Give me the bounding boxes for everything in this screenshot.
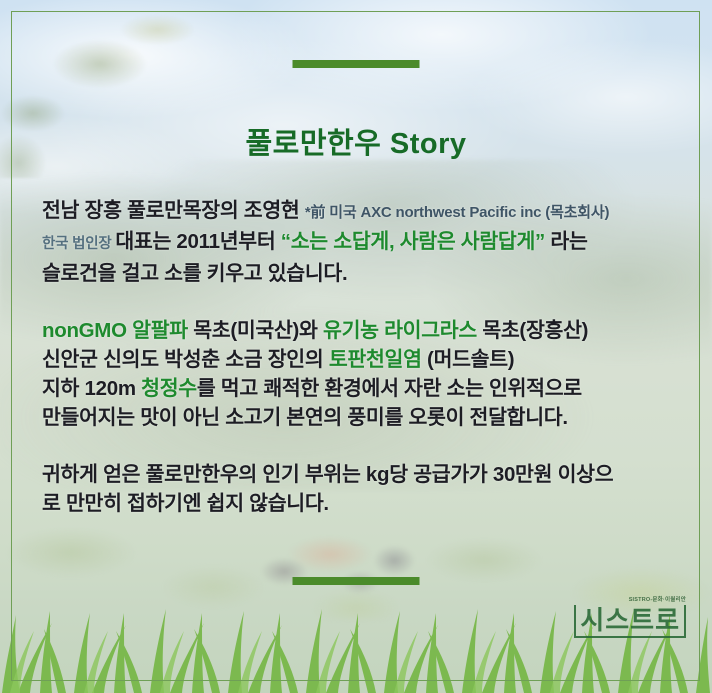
story-body: 전남 장흥 풀로만목장의 조영현 *前 미국 AXC northwest Pac…	[42, 196, 684, 518]
text-segment: (머드솔트)	[422, 348, 515, 371]
poster-content: 풀로만한우 Story 전남 장흥 풀로만목장의 조영현 *前 미국 AXC n…	[0, 0, 712, 693]
text-segment: 대표는 2011년부터	[115, 230, 280, 253]
paragraph-price: 귀하게 얻은 풀로만한우의 인기 부위는 kg당 공급가가 30만원 이상으로 …	[42, 460, 684, 518]
text-segment: 슬로건을 걸고 소를 키우고 있습니다.	[42, 262, 347, 285]
text-segment: nonGMO 알팔파	[42, 319, 188, 342]
text-segment: 한국 법인장	[42, 236, 115, 252]
paragraph-feed: nonGMO 알팔파 목초(미국산)와 유기농 라이그라스 목초(장흥산)신안군…	[42, 316, 684, 432]
story-poster: 풀로만한우 Story 전남 장흥 풀로만목장의 조영현 *前 미국 AXC n…	[0, 0, 712, 693]
text-segment: 전남 장흥 풀로만목장의 조영현	[42, 199, 305, 222]
text-segment: 지하 120m	[42, 377, 141, 400]
text-segment: 청정수	[141, 377, 197, 400]
text-segment: 유기농 라이그라스	[323, 319, 477, 342]
text-segment: 를 먹고 쾌적한 환경에서 자란 소는 인위적으로	[197, 377, 582, 400]
paragraph-intro: 전남 장흥 풀로만목장의 조영현 *前 미국 AXC northwest Pac…	[42, 196, 684, 288]
text-segment: 만들어지는 맛이 아닌 소고기 본연의 풍미를 오롯이 전달합니다.	[42, 406, 568, 429]
text-segment: 로 만만히 접하기엔 쉽지 않습니다.	[42, 492, 329, 515]
text-segment: 라는	[545, 230, 588, 253]
text-segment: 목초(미국산)와	[188, 319, 323, 342]
brand-logo: SISTRO-문화·이월리안 시스트로	[571, 595, 686, 638]
text-segment: “소는 소답게, 사람은 사람답게”	[281, 230, 545, 253]
logo-tagline: SISTRO-문화·이월리안	[571, 595, 686, 603]
text-segment: 신안군 신의도 박성춘 소금 장인의	[42, 348, 329, 371]
text-segment: 귀하게 얻은 풀로만한우의 인기 부위는 kg당 공급가가 30만원 이상으	[42, 463, 613, 486]
text-segment: 목초(장흥산)	[477, 319, 588, 342]
logo-wordmark: 시스트로	[574, 605, 686, 638]
text-segment: *前 미국 AXC northwest Pacific inc (목초회사)	[305, 204, 609, 221]
page-title: 풀로만한우 Story	[0, 120, 712, 162]
divider-bottom	[293, 577, 420, 585]
divider-top	[293, 60, 420, 68]
text-segment: 토판천일염	[329, 348, 422, 371]
